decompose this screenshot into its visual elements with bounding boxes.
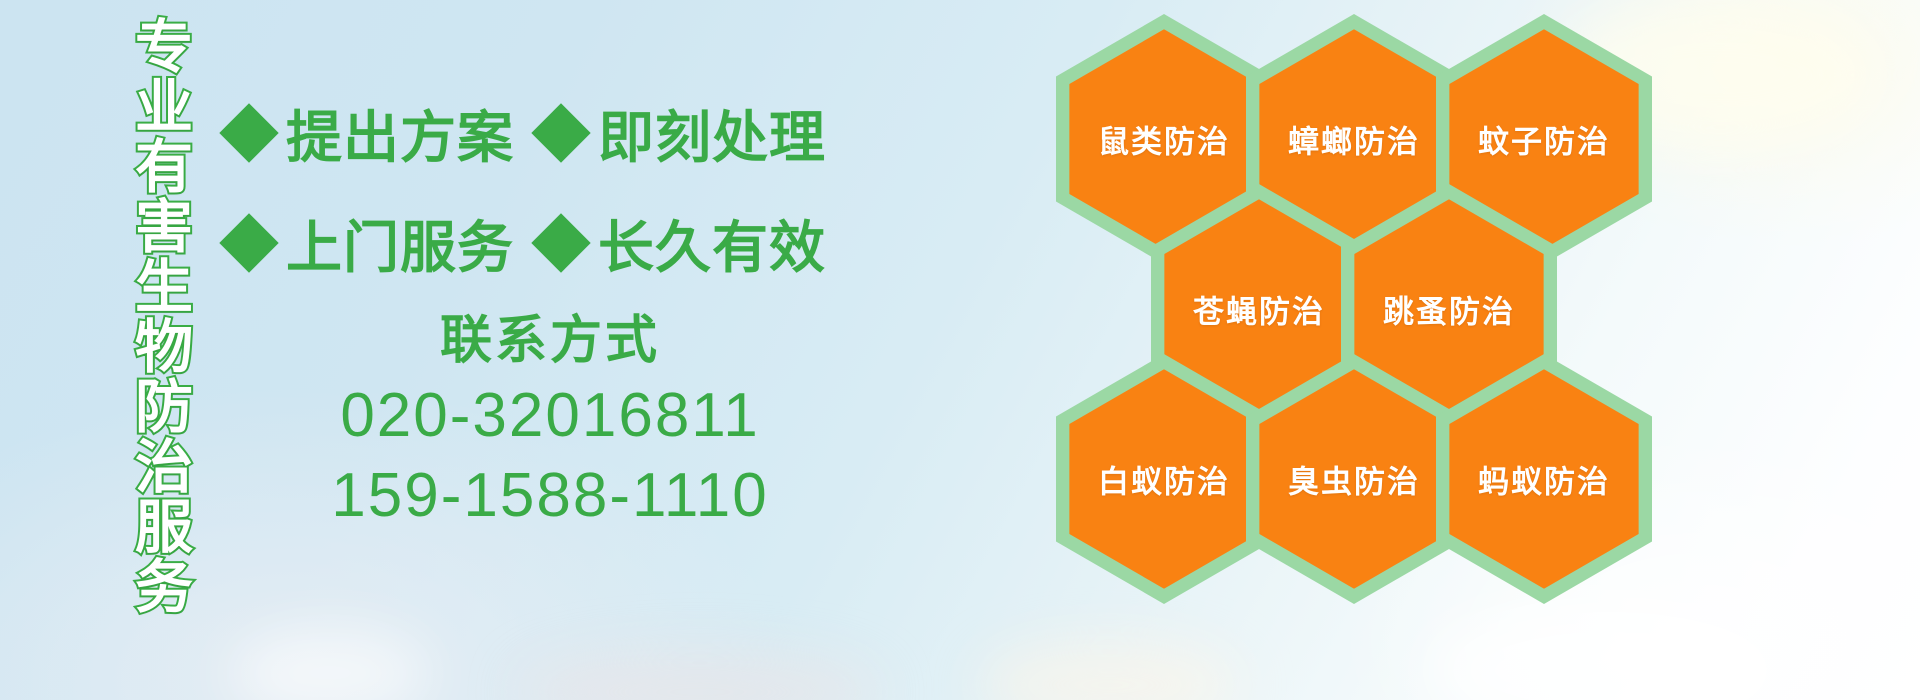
feature-label: 即刻处理 [598, 93, 826, 174]
feature-label: 长久有效 [598, 203, 826, 284]
feature-list: 提出方案 即刻处理 上门服务 长久有效 [228, 78, 864, 298]
diamond-bullet-icon [219, 213, 278, 272]
feature-item-long-lasting-effect: 长久有效 [540, 203, 826, 284]
service-hex-label: 跳蚤防治 [1341, 287, 1557, 332]
service-hex-termite-control[interactable]: 白蚁防治 [1056, 354, 1272, 604]
contact-phone-landline[interactable]: 020-32016811 [232, 376, 868, 456]
vertical-headline: 专 业 有 害 生 物 防 治 服 务 [112, 18, 216, 618]
vertical-headline-char: 防 [112, 378, 216, 438]
background-glow-blob [230, 628, 430, 700]
pest-control-service-banner: 专 业 有 害 生 物 防 治 服 务 提出方案 即刻处理 上门服务 [0, 0, 1920, 700]
feature-item-immediate-handling: 即刻处理 [540, 93, 826, 174]
vertical-headline-char: 务 [112, 558, 216, 618]
vertical-headline-char: 业 [112, 78, 216, 138]
vertical-headline-char: 有 [112, 138, 216, 198]
service-hex-label: 蟑螂防治 [1246, 117, 1462, 162]
service-hex-label: 苍蝇防治 [1151, 287, 1367, 332]
vertical-headline-char: 专 [112, 18, 216, 78]
service-hex-label: 臭虫防治 [1246, 457, 1462, 502]
feature-item-door-to-door-service: 上门服务 [228, 203, 514, 284]
service-hex-ant-control[interactable]: 蚂蚁防治 [1436, 354, 1652, 604]
service-hex-label: 白蚁防治 [1056, 457, 1272, 502]
feature-label: 上门服务 [286, 203, 514, 284]
contact-phone-mobile[interactable]: 159-1588-1110 [232, 456, 868, 536]
contact-heading: 联系方式 [232, 306, 868, 376]
service-hex-label: 鼠类防治 [1056, 117, 1272, 162]
vertical-headline-char: 治 [112, 438, 216, 498]
service-hex-label: 蚂蚁防治 [1436, 457, 1652, 502]
service-honeycomb-grid: 鼠类防治 蟑螂防治 蚊子防治 苍蝇防治 跳蚤防治 白蚁防治 [1056, 8, 1676, 688]
feature-row: 提出方案 即刻处理 [228, 78, 864, 188]
feature-label: 提出方案 [286, 93, 514, 174]
vertical-headline-char: 物 [112, 318, 216, 378]
vertical-headline-char: 服 [112, 498, 216, 558]
service-hex-bedbug-control[interactable]: 臭虫防治 [1246, 354, 1462, 604]
vertical-headline-char: 害 [112, 198, 216, 258]
vertical-headline-char: 生 [112, 258, 216, 318]
service-hex-label: 蚊子防治 [1436, 117, 1652, 162]
background-glow-blob [520, 652, 880, 700]
contact-block: 联系方式 020-32016811 159-1588-1110 [232, 306, 868, 536]
diamond-bullet-icon [219, 103, 278, 162]
feature-item-propose-plan: 提出方案 [228, 93, 514, 174]
feature-row: 上门服务 长久有效 [228, 188, 864, 298]
diamond-bullet-icon [531, 103, 590, 162]
diamond-bullet-icon [531, 213, 590, 272]
